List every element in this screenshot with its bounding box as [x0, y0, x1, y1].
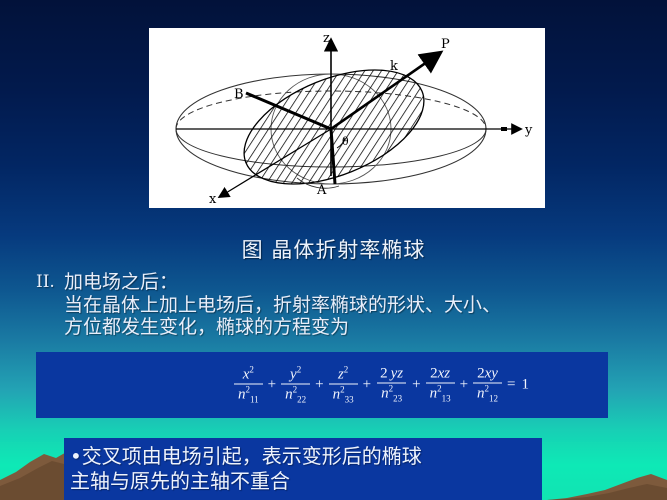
formula-equals: =: [507, 377, 515, 394]
term-numerator-yz: yz: [391, 366, 404, 382]
section-heading-row: II. 加电场之后：: [36, 272, 627, 294]
ellipsoid-equation: x2 n211 + y2 n222 + z2 n233 + 2 yz n223 …: [36, 366, 608, 405]
term-den-sub-n11: 11: [250, 395, 259, 405]
figure-label-x: x: [209, 192, 217, 207]
formula-term-2xy: 2xy n212: [473, 367, 502, 404]
term-den-sub-n13: 13: [442, 394, 451, 404]
formula-plus-4: +: [412, 377, 420, 394]
formula-plus-1: +: [268, 377, 276, 394]
term-coef-2xz: 2: [430, 366, 438, 382]
section-paragraph-line-1: 当在晶体上加上电场后，折射率椭球的形状、大小、: [64, 295, 627, 316]
section-headline: 加电场之后：: [64, 272, 178, 294]
term-denominator-n12: n: [477, 386, 485, 402]
bullet-line-2: 主轴与原先的主轴不重合: [70, 469, 542, 494]
term-den-sub-n23: 23: [393, 394, 402, 404]
term-den-exp-n33: 2: [340, 385, 345, 395]
bullet-note-box: •交叉项由电场引起，表示变形后的椭球 主轴与原先的主轴不重合: [64, 438, 542, 500]
figure-caption: 图 晶体折射率椭球: [0, 234, 667, 264]
slide-canvas: z y x k P B A θ 图 晶体折射率椭球 II. 加电场之后： 当在晶…: [0, 0, 667, 500]
figure-label-y: y: [524, 123, 533, 138]
term-den-sub-n22: 22: [297, 395, 306, 405]
term-den-exp-n22: 2: [293, 385, 298, 395]
figure-label-B: B: [234, 87, 244, 102]
formula-term-y2: y2 n222: [281, 366, 310, 405]
term-denominator-n33: n: [333, 387, 341, 403]
term-num-exp-x: 2: [249, 365, 254, 375]
term-den-exp-n12: 2: [485, 384, 490, 394]
term-numerator-xz: xz: [438, 366, 451, 382]
bullet-text-1: 交叉项由电场引起，表示变形后的椭球: [82, 444, 422, 468]
formula-plus-2: +: [315, 377, 323, 394]
formula-plus-3: +: [363, 377, 371, 394]
formula-term-x2: x2 n211: [234, 366, 263, 405]
refractive-index-ellipsoid-figure: z y x k P B A θ: [149, 28, 545, 208]
formula-term-2xz: 2xz n213: [426, 367, 455, 404]
term-denominator-n23: n: [381, 386, 389, 402]
term-den-exp-n23: 2: [389, 384, 394, 394]
term-num-exp-y: 2: [297, 365, 302, 375]
term-denominator-n13: n: [430, 386, 438, 402]
bullet-line-1: •交叉项由电场引起，表示变形后的椭球: [70, 444, 542, 469]
section-block: II. 加电场之后： 当在晶体上加上电场后，折射率椭球的形状、大小、 方位都发生…: [36, 272, 627, 338]
mountain-right-decoration: [547, 460, 667, 500]
term-denominator-n22: n: [285, 387, 293, 403]
formula-plus-5: +: [460, 377, 468, 394]
figure-label-theta: θ: [342, 135, 349, 148]
formula-rhs: 1: [522, 377, 530, 394]
term-den-exp-n11: 2: [246, 385, 251, 395]
bullet-marker: •: [70, 444, 82, 468]
formula-term-z2: z2 n233: [329, 366, 358, 405]
formula-term-2yz: 2 yz n223: [376, 367, 407, 404]
figure-label-k: k: [390, 59, 398, 74]
formula-box: x2 n211 + y2 n222 + z2 n233 + 2 yz n223 …: [36, 352, 608, 418]
section-numeral: II.: [36, 272, 64, 292]
term-numerator-xy: xy: [485, 366, 498, 382]
term-denominator-n11: n: [238, 387, 246, 403]
term-numerator-y: y: [290, 367, 297, 383]
term-coef-2xy: 2: [477, 366, 485, 382]
term-den-sub-n33: 33: [345, 395, 354, 405]
figure-label-A: A: [316, 183, 327, 198]
term-den-sub-n12: 12: [489, 394, 498, 404]
term-num-exp-z: 2: [344, 365, 349, 375]
term-den-exp-n13: 2: [437, 384, 442, 394]
term-coef-2yz: 2: [380, 366, 388, 382]
figure-label-P: P: [441, 37, 450, 52]
section-paragraph-line-2: 方位都发生变化，椭球的方程变为: [64, 317, 627, 338]
figure-label-z: z: [323, 31, 330, 46]
